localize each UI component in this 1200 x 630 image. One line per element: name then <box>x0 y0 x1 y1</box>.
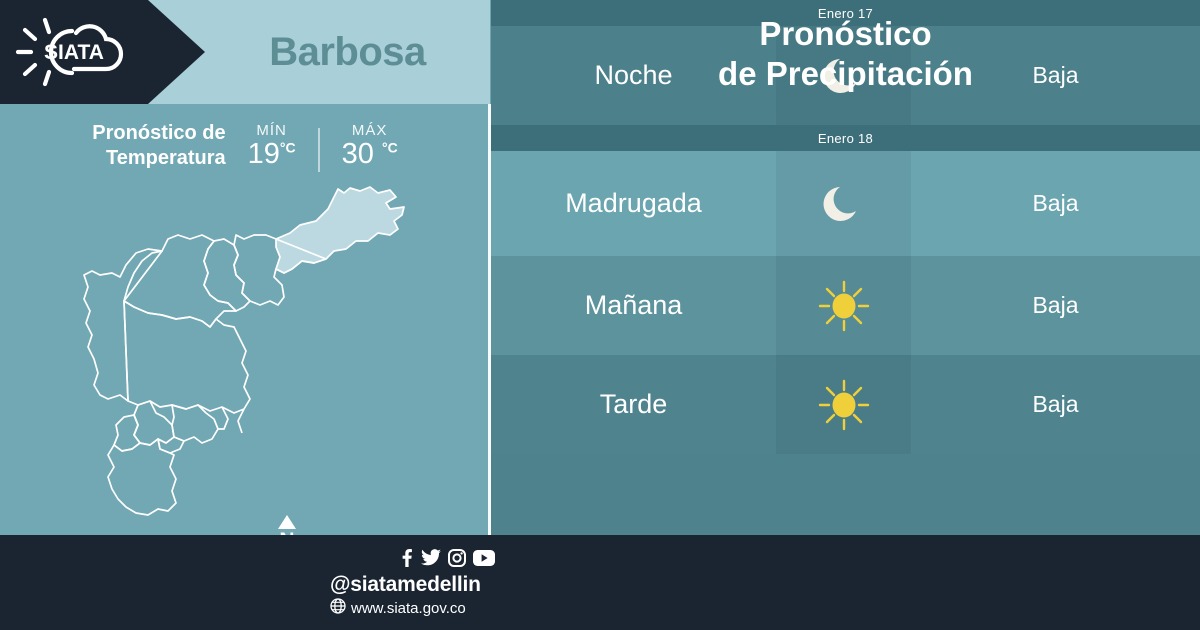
sun-icon <box>776 256 911 355</box>
globe-icon <box>330 598 346 618</box>
forecast-row-tarde[interactable]: Tarde Baja <box>491 355 1200 454</box>
forecast-period-label: Mañana <box>491 256 776 355</box>
siata-logo-pennant: SIATA <box>0 0 205 104</box>
instagram-icon[interactable] <box>448 549 466 572</box>
map-municipality-northwest[interactable] <box>84 249 162 401</box>
forecast-period-label: Tarde <box>491 355 776 454</box>
precipitation-title: Pronóstico de Precipitación <box>491 0 1200 108</box>
temperature-title-line2: Temperatura <box>92 146 225 171</box>
forecast-level: Baja <box>911 256 1200 355</box>
temperature-min-label: MÍN <box>248 122 296 139</box>
temperature-min-value: 19°C <box>248 139 296 169</box>
map-municipality-itagui[interactable] <box>134 401 174 445</box>
footer-social-block: @siatamedellin www.siata.gov.co <box>330 549 495 618</box>
temperature-min-unit: °C <box>280 140 296 156</box>
moon-icon <box>776 151 911 256</box>
footer: @siatamedellin www.siata.gov.co Con el a… <box>0 535 1200 630</box>
map-municipality-barbosa[interactable] <box>276 187 404 273</box>
left-header: SIATA Barbosa <box>0 0 490 104</box>
temperature-max-unit: °C <box>382 140 398 156</box>
page-title: Barbosa <box>205 0 490 104</box>
map-municipality-bello[interactable] <box>124 235 236 327</box>
temperature-block: Pronóstico de Temperatura MÍN 19°C MÁX 3… <box>0 104 490 188</box>
temperature-min-number: 19 <box>248 138 280 170</box>
youtube-icon[interactable] <box>473 550 495 571</box>
temperature-title-line1: Pronóstico de <box>92 121 225 146</box>
map-municipality-caldas[interactable] <box>108 439 176 515</box>
forecast-level: Baja <box>911 355 1200 454</box>
precipitation-title-line2: de Precipitación <box>718 54 973 94</box>
temperature-min: MÍN 19°C <box>248 122 296 169</box>
temperature-max: MÁX 30 °C <box>342 122 398 169</box>
precipitation-panel: Pronóstico de Precipitación Enero 17 Noc… <box>491 0 1200 535</box>
north-arrow-icon <box>278 515 296 529</box>
social-handle[interactable]: @siatamedellin <box>330 573 495 597</box>
website-url: www.siata.gov.co <box>351 600 466 617</box>
map-svg <box>38 177 458 527</box>
map-municipality-copacabana[interactable] <box>204 239 250 311</box>
temperature-title: Pronóstico de Temperatura <box>92 121 225 171</box>
map-municipality-medellin[interactable] <box>124 301 250 413</box>
website-row[interactable]: www.siata.gov.co <box>330 598 495 618</box>
date-band-jan18: Enero 18 <box>491 125 1200 151</box>
forecast-row-madrugada[interactable]: Madrugada Baja <box>491 151 1200 256</box>
aburra-valley-map: N <box>0 185 490 535</box>
forecast-level: Baja <box>911 151 1200 256</box>
forecast-period-label: Madrugada <box>491 151 776 256</box>
siata-logo-text: SIATA <box>44 41 104 64</box>
temperature-divider <box>318 128 320 172</box>
temperature-max-value: 30 °C <box>342 139 398 169</box>
sun-cloud-icon: SIATA <box>14 16 134 93</box>
social-icon-row <box>330 549 495 572</box>
forecast-row-manana[interactable]: Mañana Baja <box>491 256 1200 355</box>
facebook-icon[interactable] <box>398 549 414 572</box>
sun-icon <box>776 355 911 454</box>
precipitation-title-line1: Pronóstico <box>759 14 931 54</box>
twitter-icon[interactable] <box>421 549 441 572</box>
temperature-max-number: 30 <box>342 138 374 170</box>
left-panel: SIATA Barbosa Pronóstico de Temperatura … <box>0 0 490 535</box>
temperature-max-label: MÁX <box>342 122 398 139</box>
